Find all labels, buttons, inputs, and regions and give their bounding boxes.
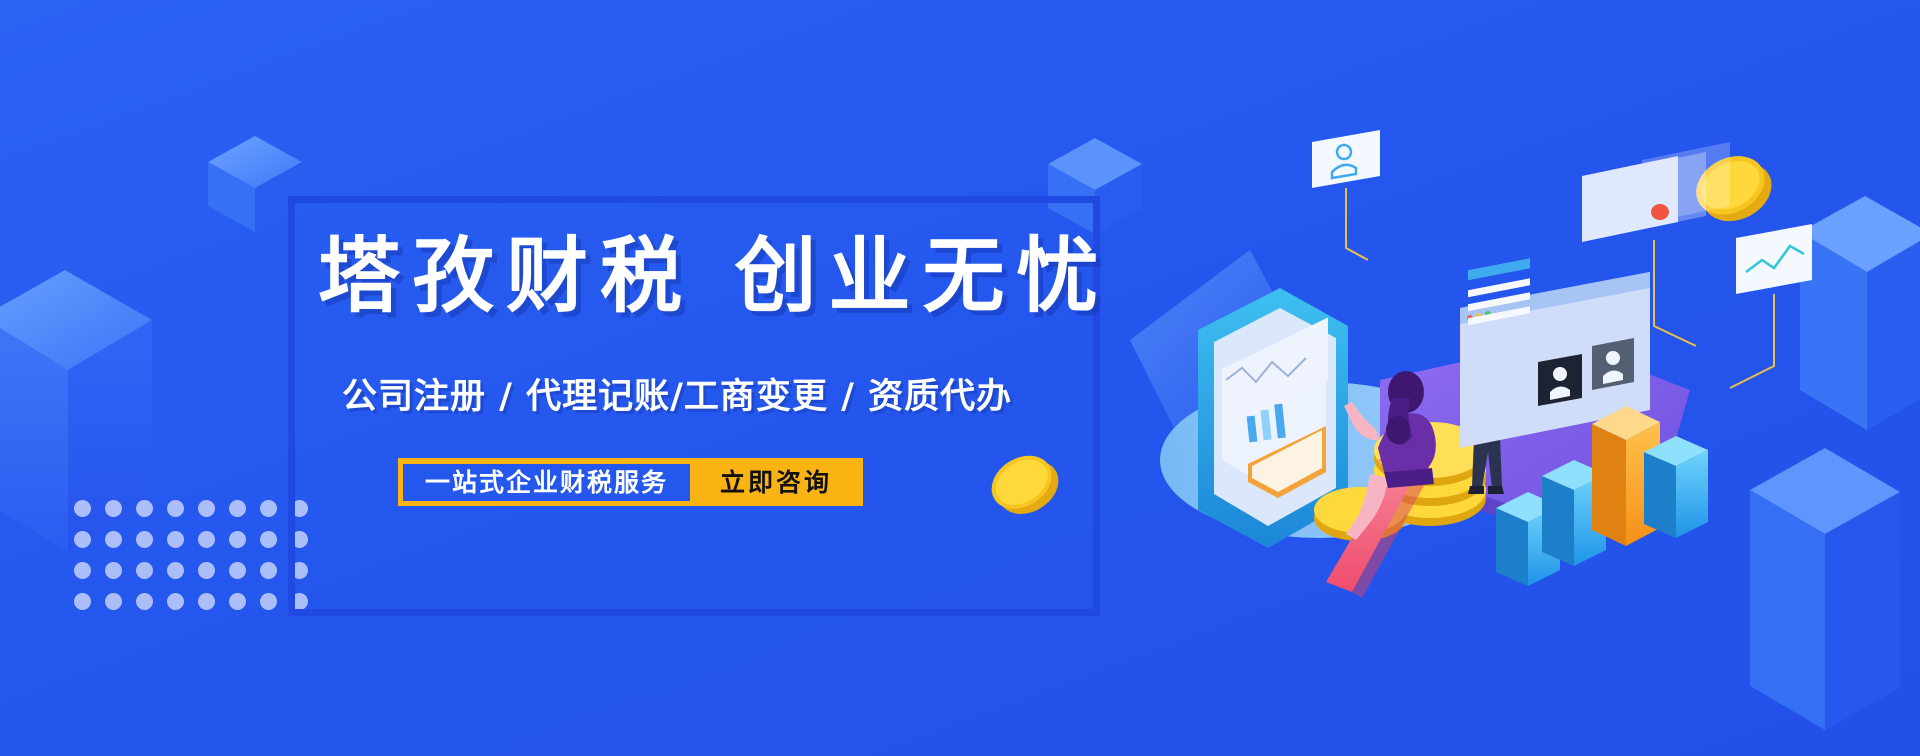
page-title: 塔孜财税 创业无忧 (318, 236, 1078, 318)
hero-illustration (1130, 130, 1830, 600)
credit-card-illustration (1582, 130, 1730, 242)
avatar-card-illustration (1312, 130, 1380, 188)
line-chart-card-illustration (1736, 224, 1812, 294)
promo-banner: 塔孜财税 创业无忧 公司注册 / 代理记账/工商变更 / 资质代办 一站式企业财… (0, 0, 1920, 756)
consult-now-button[interactable]: 立即咨询 (690, 464, 858, 501)
cta-group: 一站式企业财税服务 立即咨询 (398, 458, 863, 506)
dot-grid-decoration (74, 500, 322, 624)
cta-tagline: 一站式企业财税服务 (403, 464, 690, 501)
services-subtitle: 公司注册 / 代理记账/工商变更 / 资质代办 (342, 368, 1062, 419)
